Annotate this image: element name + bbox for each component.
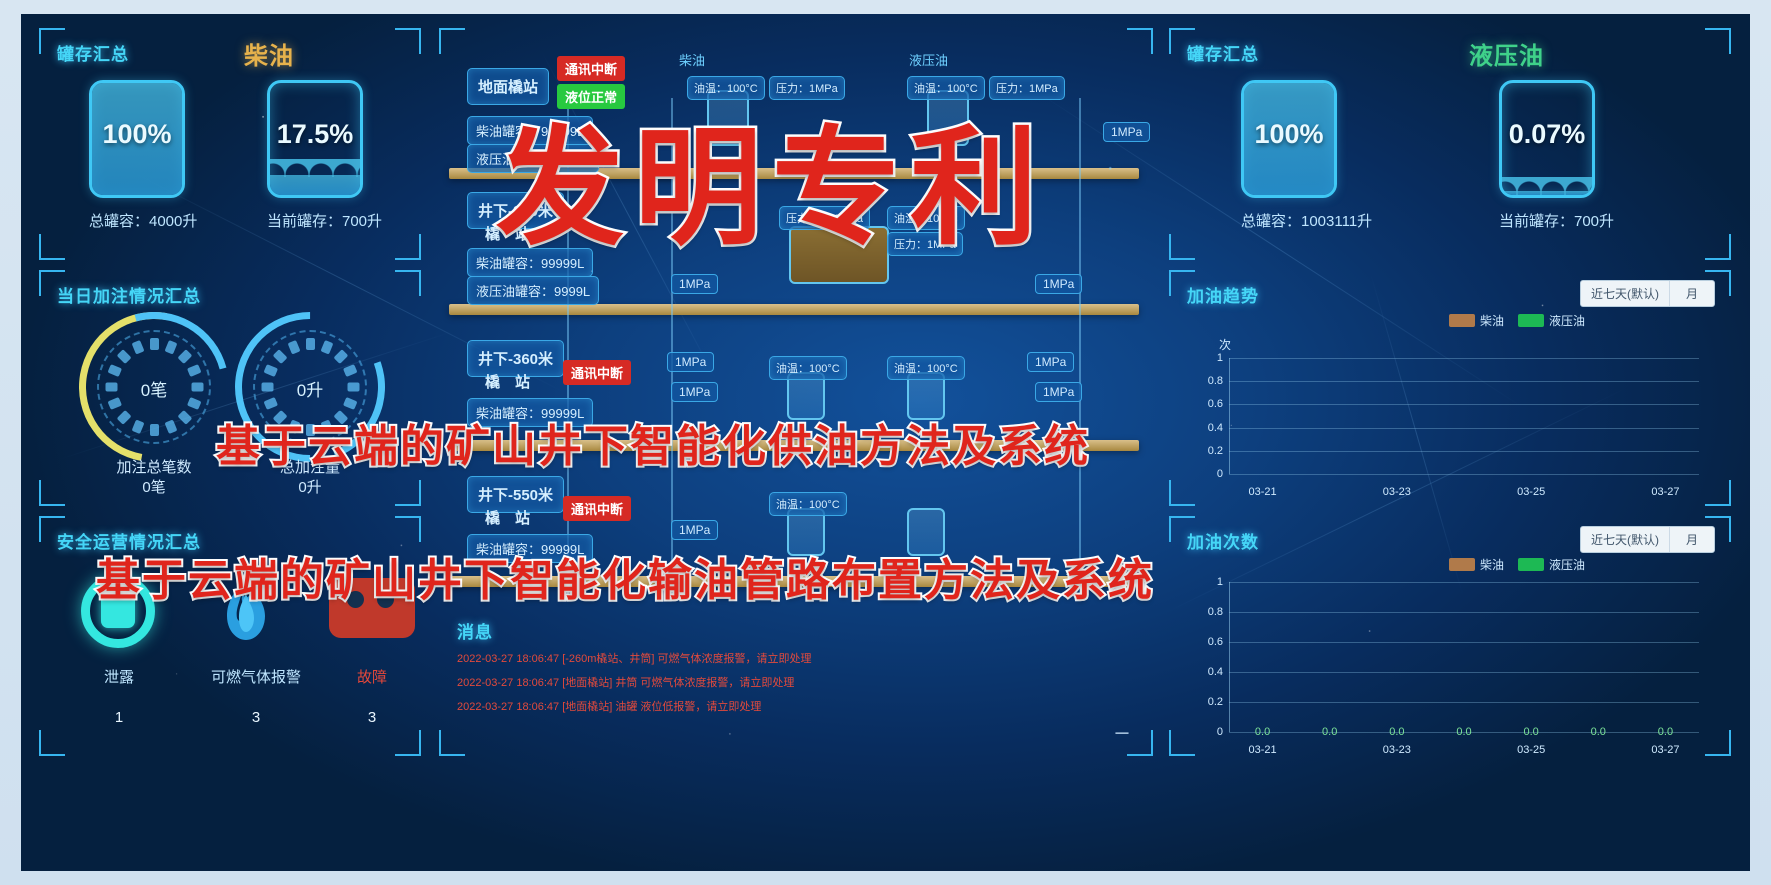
y-tick-label: 0.2 [1195,696,1223,708]
pressure-tag-7: 1MPa [671,520,718,540]
gauge-tick [150,424,159,436]
gridline [1229,451,1699,452]
left-total-pct: 100% [92,119,182,150]
refuel-count-sub: 0笔 [142,479,165,496]
left-current-tank: 17.5% 当前罐存：700升 [267,80,382,231]
station-2-name2: 橇 站 [475,500,540,535]
ground-station-alarm: 通讯中断 [557,56,625,81]
right-total-tank: 100% 总罐容：1003111升 [1241,80,1372,231]
tank-label-hydraulic: 液压油 [909,50,948,69]
gridline [1229,612,1699,613]
y-tick-label: 0.8 [1195,606,1223,618]
y-tick-label: 1 [1195,576,1223,588]
tank-gauge-total: 100% [89,80,185,198]
right-total-pct: 100% [1244,119,1334,150]
readout-l2-temp: 油温：100°C [769,356,847,380]
y-tick-label: 1 [1195,352,1223,364]
gridline [1229,404,1699,405]
x-tick-label: 03-25 [1517,486,1545,498]
gauge-tick [116,349,131,364]
data-point-label: 0.0 [1456,726,1471,738]
readout-l2-temp-b: 油温：100°C [887,356,965,380]
legend-swatch-hydraulic [1518,558,1544,571]
trend-title: 加油趋势 [1187,282,1259,307]
x-tick-label: 03-23 [1383,486,1411,498]
y-tick-label: 0.4 [1195,422,1223,434]
patent-badge-overlay: 发明专利 [496,84,1048,269]
deck-level-1 [449,304,1139,315]
left-tank-title: 罐存汇总 [57,40,129,65]
count-btn-month[interactable]: 月 [1670,527,1714,552]
refuel-title: 当日加注情况汇总 [57,282,201,307]
x-tick-label: 03-23 [1383,744,1411,756]
refuel-count-value: 0笔 [79,376,229,401]
message-item-0: 2022-03-27 18:06:47 [-260m橇站、井筒] 可燃气体浓度报… [457,650,812,666]
y-tick-label: 0.2 [1195,445,1223,457]
data-point-label: 0.0 [1322,726,1337,738]
gauge-tick [306,338,315,350]
legend-label-hydraulic: 液压油 [1549,556,1585,573]
x-tick-label: 03-21 [1248,486,1276,498]
data-point-label: 0.0 [1591,726,1606,738]
pressure-tag-3: 1MPa [667,352,714,372]
safety-label-2: 故障 [357,669,387,686]
refuel-count-label-group: 加注总笔数 0笔 [79,458,229,498]
legend-item-diesel: 柴油 [1449,556,1504,573]
trend-y-axis-name: 次 [1219,336,1231,353]
messages-title: 消息 [457,618,493,643]
gridline [1229,672,1699,673]
legend-swatch-diesel [1449,314,1475,327]
x-tick-label: 03-27 [1651,486,1679,498]
right-tank-panel: 罐存汇总 液压油 100% 总罐容：1003111升 0.07% 当前罐 [1169,28,1731,260]
screen-canvas: 罐存汇总 柴油 100% 总罐容：4000升 17.5% 当前罐存：70 [21,14,1750,871]
gauge-tick [131,340,144,355]
left-tank-panel: 罐存汇总 柴油 100% 总罐容：4000升 17.5% 当前罐存：70 [39,28,421,260]
gauge-tick [287,340,300,355]
right-trend-panel: 加油趋势 近七天(默认) 月 柴油 液压油 次 00.20.40.6 [1169,270,1731,506]
gridline [1229,381,1699,382]
patent-line2-overlay: 基于云端的矿山井下智能化输油管路布置方法及系统 [96,544,1154,608]
refuel-volume-value: 0升 [235,376,385,401]
legend-swatch-hydraulic [1518,314,1544,327]
station-2-status: 通讯中断 [563,496,631,521]
trend-plot-area: 00.20.40.60.8103-2103-2303-2503-27 [1229,358,1699,474]
count-plot-area: 00.20.40.60.810.003-210.00.003-230.00.00… [1229,582,1699,732]
safety-item-gas: 可燃气体报警 3 [191,666,321,726]
y-tick-label: 0 [1195,726,1223,738]
gauge-refuel-count: 0笔 [79,312,229,462]
trend-btn-week[interactable]: 近七天(默认) [1581,281,1670,306]
right-tank-product: 液压油 [1469,36,1544,71]
tank-gauge-total: 100% [1241,80,1337,198]
x-tick-label: 03-27 [1651,744,1679,756]
left-current-caption: 当前罐存：700升 [267,210,382,231]
left-total-caption: 总罐容：4000升 [89,210,197,231]
safety-label-0: 泄露 [104,669,134,686]
legend-item-diesel: 柴油 [1449,312,1504,329]
right-total-caption: 总罐容：1003111升 [1241,210,1372,231]
gridline [1229,474,1699,475]
gridline [1229,702,1699,703]
legend-swatch-diesel [1449,558,1475,571]
safety-item-leak: 泄露 1 [69,666,169,726]
right-current-tank: 0.07% 当前罐存：700升 [1499,80,1614,231]
y-axis-line [1229,358,1230,474]
y-tick-label: 0.4 [1195,666,1223,678]
gauge-tick [272,349,287,364]
gauge-tick [320,340,333,355]
data-point-label: 0.0 [1389,726,1404,738]
trend-btn-month[interactable]: 月 [1670,281,1714,306]
legend-item-hydraulic: 液压油 [1518,556,1585,573]
gauge-tick [150,338,159,350]
gridline [1229,428,1699,429]
y-axis-line [1229,582,1230,732]
right-current-caption: 当前罐存：700升 [1499,210,1614,231]
right-current-pct: 0.07% [1502,119,1592,150]
y-tick-label: 0.6 [1195,636,1223,648]
dashboard-root: 罐存汇总 柴油 100% 总罐容：4000升 17.5% 当前罐存：70 [0,0,1771,885]
safety-label-1: 可燃气体报警 [211,669,301,686]
gridline [1229,582,1699,583]
patent-line1-overlay: 基于云端的矿山井下智能化供油方法及系统 [216,410,1090,474]
data-point-label: 0.0 [1658,726,1673,738]
message-item-2: 2022-03-27 18:06:47 [地面橇站] 油罐 液位低报警，请立即处… [457,698,761,714]
right-tank-title: 罐存汇总 [1187,40,1259,65]
trend-range-buttons[interactable]: 近七天(默认) 月 [1580,280,1715,307]
tank-gauge-current: 17.5% [267,80,363,198]
legend-label-hydraulic: 液压油 [1549,312,1585,329]
tank-gauge-current: 0.07% [1499,80,1595,198]
pressure-tag-0: 1MPa [1103,122,1150,142]
gridline [1229,642,1699,643]
tank-label-diesel: 柴油 [679,50,705,69]
pressure-tag-6: 1MPa [1035,382,1082,402]
count-title: 加油次数 [1187,528,1259,553]
data-point-label: 0.0 [1523,726,1538,738]
y-tick-label: 0.8 [1195,375,1223,387]
pressure-tag-4: 1MPa [1027,352,1074,372]
refuel-volume-sub: 0升 [298,479,321,496]
pressure-tag-2: 1MPa [1035,274,1082,294]
gauge-tick [164,340,177,355]
left-total-tank: 100% 总罐容：4000升 [89,80,197,231]
legend-label-diesel: 柴油 [1480,312,1504,329]
y-tick-label: 0 [1195,468,1223,480]
x-tick-label: 03-21 [1248,744,1276,756]
count-btn-week[interactable]: 近七天(默认) [1581,527,1670,552]
refuel-count-label: 加注总笔数 [116,459,191,476]
y-tick-label: 0.6 [1195,398,1223,410]
right-count-panel: 加油次数 近七天(默认) 月 柴油 液压油 00.20.40.60.810.00… [1169,516,1731,756]
message-item-1: 2022-03-27 18:06:47 [地面橇站] 井筒 可燃气体浓度报警，请… [457,674,794,690]
safety-value-0: 1 [69,709,169,726]
x-tick-label: 03-25 [1517,744,1545,756]
readout-l3-temp: 油温：100°C [769,492,847,516]
station-1-status: 通讯中断 [563,360,631,385]
pressure-tag-5: 1MPa [671,382,718,402]
left-tank-product: 柴油 [244,36,294,71]
station-0-hyd: 液压油罐容：9999L [467,276,599,305]
trend-legend: 柴油 液压油 [1449,312,1585,329]
gridline [1229,358,1699,359]
safety-value-2: 3 [329,709,415,726]
legend-label-diesel: 柴油 [1480,556,1504,573]
zoom-out-button[interactable]: － [1113,720,1131,746]
count-range-buttons[interactable]: 近七天(默认) 月 [1580,526,1715,553]
riser-pipe-right [1079,98,1081,598]
pressure-tag-1: 1MPa [671,274,718,294]
left-current-pct: 17.5% [270,119,360,150]
safety-item-fault: 故障 3 [329,666,415,726]
station-1-name2: 橇 站 [475,364,540,399]
count-legend: 柴油 液压油 [1449,556,1585,573]
data-point-label: 0.0 [1255,726,1270,738]
safety-value-1: 3 [191,709,321,726]
legend-item-hydraulic: 液压油 [1518,312,1585,329]
